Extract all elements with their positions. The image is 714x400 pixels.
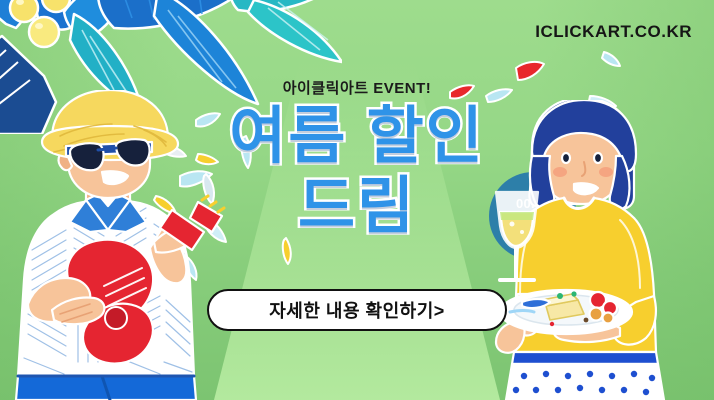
cta-button[interactable]: 자세한 내용 확인하기> xyxy=(207,289,507,331)
brand-logo: ICLICKART.CO.KR xyxy=(535,22,692,42)
illustration-man-with-ukulele xyxy=(0,90,244,400)
event-banner: ICLICKART.CO.KR 아이클릭아트 EVENT! 여름 할인 드림 0… xyxy=(0,0,714,400)
title-line-1: 여름 할인 xyxy=(229,102,484,171)
illustration-woman-with-plate xyxy=(488,100,714,400)
